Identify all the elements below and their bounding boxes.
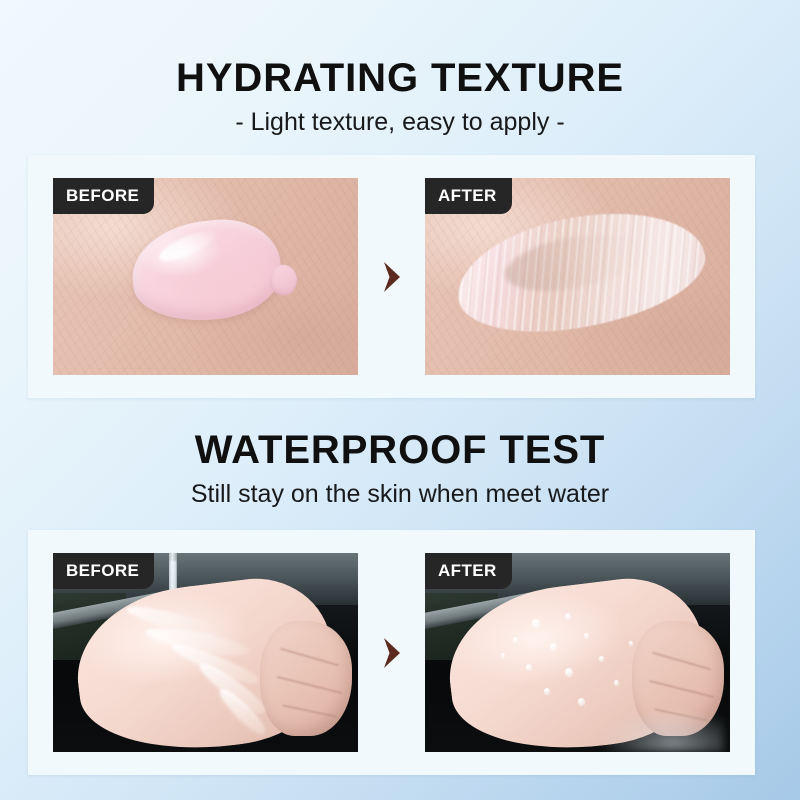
arrow-separator-waterproof (358, 553, 425, 752)
chevron-right-icon (379, 260, 405, 294)
chevron-right-icon (379, 636, 405, 670)
section-subtitle-hydrating-texture: - Light texture, easy to apply - (0, 110, 800, 135)
water-droplet (550, 643, 557, 650)
water-droplet (584, 633, 589, 638)
comparison-panel-waterproof: BEFORE (28, 530, 755, 775)
badge-after: AFTER (425, 178, 512, 214)
page-title: WATERPROOF TEST (0, 430, 800, 470)
water-mist (596, 708, 724, 752)
before-photo-waterproof: BEFORE (53, 553, 358, 752)
after-photo-waterproof: AFTER (425, 553, 730, 752)
section-title-waterproof-test: WATERPROOF TEST (0, 430, 800, 470)
page-subtitle: Still stay on the skin when meet water (0, 482, 800, 507)
before-photo-texture: BEFORE (53, 178, 358, 375)
badge-after: AFTER (425, 553, 512, 589)
water-droplet (629, 641, 633, 645)
page-title: HYDRATING TEXTURE (0, 58, 800, 98)
section-title-hydrating-texture: HYDRATING TEXTURE (0, 58, 800, 98)
water-droplet (501, 653, 505, 657)
badge-before: BEFORE (53, 553, 154, 589)
water-droplet (565, 613, 571, 619)
knuckles (260, 621, 352, 736)
arrow-separator-texture (358, 178, 425, 375)
page-subtitle: - Light texture, easy to apply - (0, 110, 800, 135)
product-feature-page: HYDRATING TEXTURE - Light texture, easy … (0, 0, 800, 800)
badge-before: BEFORE (53, 178, 154, 214)
water-droplet (578, 698, 585, 705)
after-photo-texture: AFTER (425, 178, 730, 375)
section-subtitle-waterproof-test: Still stay on the skin when meet water (0, 482, 800, 507)
water-droplet (532, 619, 540, 627)
comparison-panel-texture: BEFORE AFTER (28, 155, 755, 398)
